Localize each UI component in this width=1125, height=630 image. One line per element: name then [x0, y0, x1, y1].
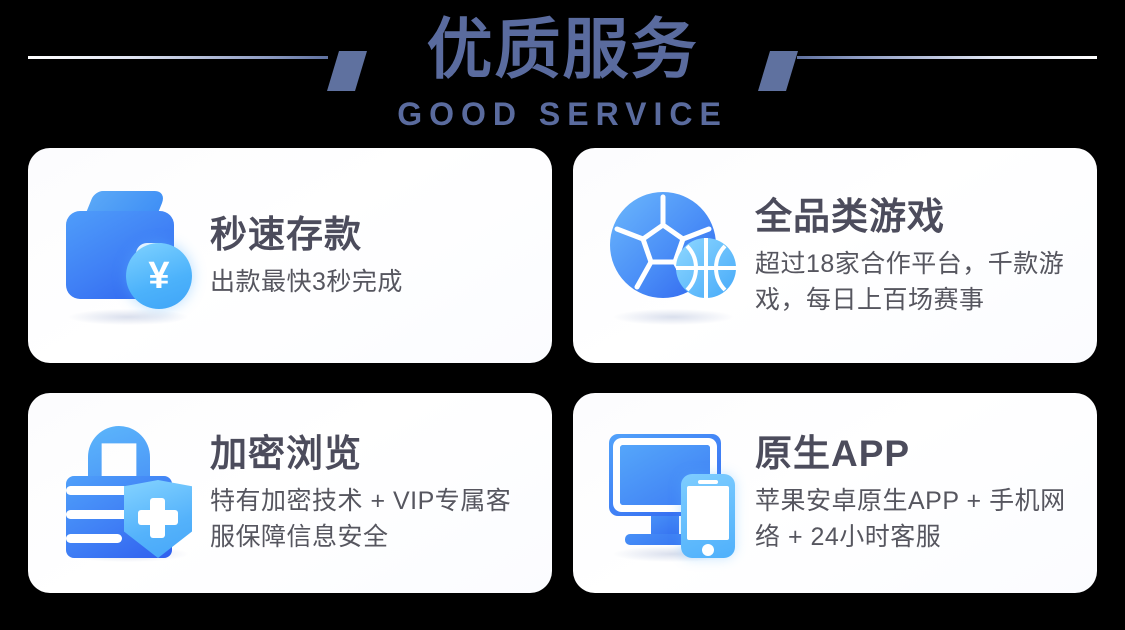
basketball-icon — [675, 237, 737, 299]
phone-speaker-shape — [698, 480, 718, 484]
yen-coin-icon: ¥ — [126, 243, 192, 309]
card-text-block: 加密浏览 特有加密技术 + VIP专属客服保障信息安全 — [210, 431, 534, 555]
icon-shadow — [613, 309, 733, 325]
page-subtitle: GOOD SERVICE — [0, 97, 1125, 131]
card-title: 原生APP — [755, 431, 1079, 477]
lock-slot-shape — [66, 534, 122, 543]
card-subtitle: 超过18家合作平台，千款游戏，每日上百场赛事 — [755, 246, 1079, 318]
page-title: 优质服务 — [0, 8, 1125, 90]
feature-card-native-app[interactable]: 原生APP 苹果安卓原生APP + 手机网络 + 24小时客服 — [573, 393, 1097, 593]
lock-slot-shape — [66, 486, 128, 495]
card-title: 加密浏览 — [210, 431, 534, 477]
card-subtitle: 出款最快3秒完成 — [210, 264, 534, 300]
feature-card-encryption[interactable]: 加密浏览 特有加密技术 + VIP专属客服保障信息安全 — [28, 393, 552, 593]
card-subtitle: 苹果安卓原生APP + 手机网络 + 24小时客服 — [755, 483, 1079, 555]
monitor-phone-icon — [603, 418, 755, 568]
card-title: 秒速存款 — [210, 212, 534, 258]
card-text-block: 原生APP 苹果安卓原生APP + 手机网络 + 24小时客服 — [755, 431, 1079, 555]
monitor-neck-shape — [651, 516, 679, 536]
wallet-yen-icon: ¥ — [58, 181, 210, 331]
card-text-block: 全品类游戏 超过18家合作平台，千款游戏，每日上百场赛事 — [755, 194, 1079, 318]
phone-home-button — [702, 544, 714, 556]
card-title: 全品类游戏 — [755, 194, 1079, 240]
feature-card-deposit[interactable]: ¥ 秒速存款 出款最快3秒完成 — [28, 148, 552, 363]
card-text-block: 秒速存款 出款最快3秒完成 — [210, 212, 534, 300]
soccer-basketball-icon — [603, 181, 755, 331]
lock-shield-icon — [58, 418, 210, 568]
feature-card-games[interactable]: 全品类游戏 超过18家合作平台，千款游戏，每日上百场赛事 — [573, 148, 1097, 363]
feature-card-grid: ¥ 秒速存款 出款最快3秒完成 — [28, 148, 1097, 593]
page-header: 优质服务 GOOD SERVICE — [0, 0, 1125, 140]
card-subtitle: 特有加密技术 + VIP专属客服保障信息安全 — [210, 483, 534, 555]
phone-screen-shape — [687, 486, 729, 540]
cross-icon — [138, 510, 178, 525]
icon-shadow — [68, 309, 188, 325]
